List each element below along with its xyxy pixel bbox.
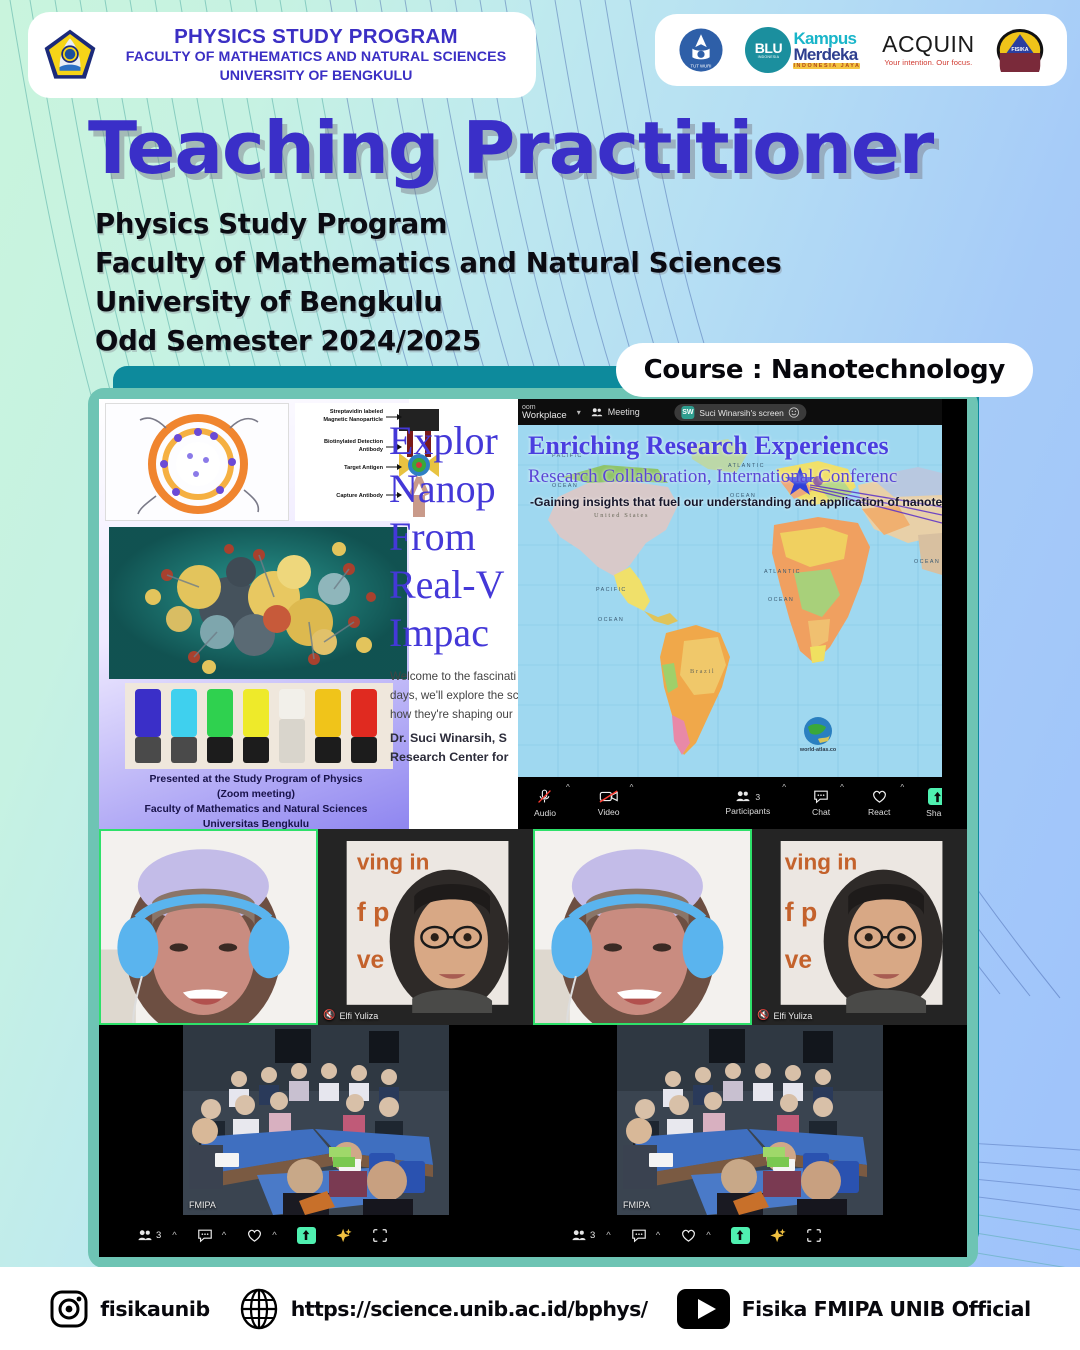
svg-text:OCEAN: OCEAN	[598, 617, 624, 623]
youtube-icon	[676, 1288, 731, 1330]
svg-text:PACIFIC: PACIFIC	[596, 587, 627, 593]
blu-logo: BLU INDONESIA	[745, 27, 791, 73]
view-button[interactable]	[372, 1228, 388, 1243]
react-label: React	[868, 807, 890, 817]
slide-body-line-3: how they're shaping our	[390, 705, 523, 724]
microphone-muted-icon: 🔇	[323, 1010, 335, 1021]
participant-name: Elfi Yuliza	[773, 1011, 812, 1021]
react-button[interactable]: React	[868, 789, 890, 817]
slide-body-line-2: days, we'll explore the sc	[390, 686, 523, 705]
tut-wuri-handayani-logo: TUT WURI	[678, 14, 724, 86]
website-url: https://science.unib.ac.id/bphys/	[291, 1297, 648, 1321]
subtitle-line-2: Faculty of Mathematics and Natural Scien…	[95, 244, 781, 283]
svg-text:Streptavidin labeled: Streptavidin labeled	[330, 409, 384, 415]
view-button[interactable]	[806, 1228, 822, 1243]
partner-logos-card: TUT WURI BLU INDONESIA Kampus Merdeka IN…	[655, 14, 1067, 86]
fisika-label: FISIKA	[1012, 47, 1029, 53]
slide-body: Welcome to the fascinati days, we'll exp…	[390, 667, 523, 724]
classroom-image: FMIPA	[617, 1025, 883, 1215]
svg-text:Brazil: Brazil	[690, 668, 715, 675]
view-grid-icon	[372, 1228, 388, 1243]
react-button[interactable]: ^	[246, 1228, 276, 1243]
svg-text:f p: f p	[785, 897, 818, 927]
participant-tile[interactable]	[533, 829, 752, 1025]
subtitle-block: Physics Study Program Faculty of Mathema…	[95, 205, 781, 361]
heart-icon	[871, 789, 888, 804]
react-caret-icon[interactable]: ^	[272, 1230, 276, 1241]
kampus-merdeka-line-2: Merdeka	[793, 47, 860, 63]
classroom-image: FMIPA	[183, 1025, 449, 1215]
svg-text:Magnetic Nanoparticle: Magnetic Nanoparticle	[323, 417, 383, 423]
classroom-tile[interactable]: FMIPA	[99, 1025, 533, 1215]
header-line-2: FACULTY OF MATHEMATICS AND NATURAL SCIEN…	[106, 48, 526, 66]
header-line-1: PHYSICS STUDY PROGRAM	[106, 25, 526, 49]
caption-line-3: Faculty of Mathematics and Natural Scien…	[103, 802, 409, 817]
page-title: Teaching Practitioner	[88, 112, 933, 184]
bottom-toolbar-left: 3 ^ ^ ^	[99, 1227, 533, 1244]
svg-text:ving in: ving in	[785, 850, 858, 875]
zoom-meeting-toolbar: Audio ^ Video ^	[518, 777, 942, 829]
footer-bar: fisikaunib https://science.unib.ac.id/bp…	[0, 1267, 1080, 1350]
svg-text:ving in: ving in	[357, 850, 430, 875]
nanoparticle-render-image	[109, 527, 407, 679]
classroom-tile-name: FMIPA	[189, 1200, 216, 1210]
audio-button[interactable]: Audio	[534, 788, 556, 818]
kampus-merdeka-logo: BLU INDONESIA Kampus Merdeka INDONESIA J…	[745, 14, 860, 86]
map-slide-subheading: Research Collaboration, International Co…	[528, 466, 897, 488]
map-slide-bullet: -Gaining insights that fuel our understa…	[530, 495, 942, 509]
classroom-strip: FMIPA	[99, 1025, 967, 1215]
zoom-screenshot: Streptavidin labeled Magnetic Nanopartic…	[99, 399, 967, 1257]
participants-label: Participants	[725, 806, 770, 816]
bottom-toolbar: 3 ^ ^ ^	[99, 1215, 967, 1255]
share-button[interactable]	[297, 1227, 316, 1244]
slide-title-line-1: Explor	[389, 417, 523, 465]
react-caret-icon[interactable]: ^	[900, 783, 904, 792]
view-grid-icon	[806, 1228, 822, 1243]
participants-count: 3	[156, 1230, 161, 1241]
participant-tile[interactable]: ving in f p ve	[752, 829, 967, 1025]
participants-caret-icon[interactable]: ^	[782, 783, 786, 792]
zoom-app-name-line-2: Workplace	[522, 411, 567, 421]
participants-caret-icon[interactable]: ^	[606, 1230, 610, 1241]
participants-button[interactable]: 3 ^	[571, 1229, 611, 1242]
participants-count: 3	[755, 792, 760, 802]
svg-text:ve: ve	[785, 947, 812, 974]
svg-text:OCEAN: OCEAN	[914, 559, 940, 565]
svg-text:Biotinylated Detection: Biotinylated Detection	[324, 439, 384, 445]
audio-label: Audio	[534, 808, 556, 818]
caption-line-2: (Zoom meeting)	[103, 787, 409, 802]
meeting-tab[interactable]: Meeting	[591, 407, 640, 418]
svg-text:world-atlas.co: world-atlas.co	[799, 747, 837, 753]
participant-strip: ving in f p ve	[99, 829, 967, 1025]
participants-icon	[137, 1229, 153, 1242]
meeting-tab-label: Meeting	[608, 407, 640, 417]
instagram-link[interactable]: fisikaunib	[49, 1289, 210, 1329]
svg-text:f p: f p	[357, 897, 390, 927]
caption-line-1: Presented at the Study Program of Physic…	[103, 772, 409, 787]
chat-label: Chat	[812, 807, 830, 817]
chat-caret-icon[interactable]: ^	[840, 783, 844, 792]
sparkle-icon	[770, 1227, 786, 1243]
instagram-icon	[49, 1289, 89, 1329]
blu-label: BLU	[755, 41, 782, 55]
participant-name: Elfi Yuliza	[339, 1011, 378, 1021]
slide-presenter: Dr. Suci Winarsih, S Research Center for	[390, 729, 523, 767]
participants-icon	[571, 1229, 587, 1242]
caption-line-4: Universitas Bengkulu	[103, 817, 409, 829]
slide-title-line-4: Real-V	[389, 561, 523, 609]
smiley-icon[interactable]	[789, 407, 800, 418]
heart-icon	[246, 1228, 263, 1243]
presenter-line-1: Dr. Suci Winarsih, S	[390, 729, 523, 748]
participant-tile[interactable]	[99, 829, 318, 1025]
zoom-window: oom Workplace ▾ Meeting SW Suci Winarsih…	[518, 399, 942, 829]
subtitle-line-3: University of Bengkulu	[95, 283, 781, 322]
map-slide-heading: Enriching Research Experiences	[528, 431, 889, 461]
video-button[interactable]: Video	[598, 789, 620, 817]
heart-icon	[680, 1228, 697, 1243]
shared-screen-row: Streptavidin labeled Magnetic Nanopartic…	[99, 399, 967, 829]
participants-icon	[735, 790, 751, 803]
participant-name-badge: 🔇 Elfi Yuliza	[757, 1010, 812, 1021]
camera-off-icon	[599, 789, 619, 804]
classroom-tile[interactable]: FMIPA	[533, 1025, 967, 1215]
chat-button[interactable]: ^	[197, 1228, 226, 1243]
chat-button[interactable]: ^	[631, 1228, 660, 1243]
slide-body-line-1: Welcome to the fascinati	[390, 667, 523, 686]
presenter-line-2: Research Center for	[390, 748, 523, 767]
screenshot-frame: Streptavidin labeled Magnetic Nanopartic…	[88, 388, 978, 1268]
svg-text:TUT WURI: TUT WURI	[690, 63, 711, 68]
svg-text:Capture Antibody: Capture Antibody	[336, 493, 384, 499]
slide-caption: Presented at the Study Program of Physic…	[103, 772, 409, 829]
react-caret-icon[interactable]: ^	[706, 1230, 710, 1241]
svg-text:Antibody: Antibody	[359, 447, 384, 453]
sharing-indicator-label: Suci Winarsih's screen	[699, 408, 783, 418]
share-screen-icon	[301, 1229, 311, 1241]
microphone-muted-icon: 🔇	[757, 1010, 769, 1021]
ai-companion-button[interactable]	[770, 1227, 786, 1243]
unib-logo	[42, 27, 98, 83]
share-button[interactable]	[731, 1227, 750, 1244]
participants-count: 3	[590, 1230, 595, 1241]
sparkle-icon	[336, 1227, 352, 1243]
liposome-diagram-image	[105, 403, 289, 521]
blu-sublabel: INDONESIA	[758, 55, 780, 59]
sharing-indicator: SW Suci Winarsih's screen	[674, 404, 806, 421]
chat-button[interactable]: Chat	[812, 789, 830, 817]
audio-caret-icon[interactable]: ^	[566, 783, 570, 792]
sharer-avatar: SW	[681, 406, 694, 419]
participants-button[interactable]: 3 ^	[137, 1229, 177, 1242]
slide-title: Explor Nanop From Real-V Impac	[389, 417, 523, 657]
svg-text:Target Antigen: Target Antigen	[344, 465, 383, 471]
slide-title-line-5: Impac	[389, 609, 523, 657]
ai-companion-button[interactable]	[336, 1227, 352, 1243]
video-caret-icon[interactable]: ^	[630, 783, 634, 792]
share-screen-icon	[932, 791, 942, 803]
svg-text:ATLANTIC: ATLANTIC	[764, 569, 801, 575]
program-title-card: PHYSICS STUDY PROGRAM FACULTY OF MATHEMA…	[28, 12, 536, 98]
zoom-app-name: oom Workplace	[522, 404, 567, 421]
classroom-tile-name: FMIPA	[623, 1200, 650, 1210]
react-button[interactable]: ^	[680, 1228, 710, 1243]
instagram-handle: fisikaunib	[100, 1297, 210, 1321]
subtitle-line-1: Physics Study Program	[95, 205, 781, 244]
share-button[interactable]: Share	[926, 788, 942, 818]
header-line-3: UNIVERSITY OF BENGKULU	[106, 67, 526, 85]
shared-map-slide: PACIFICOCEAN ATLANTICOCEAN ATLANTICOCEAN…	[518, 425, 942, 777]
slide-title-line-3: From	[389, 513, 523, 561]
zoom-titlebar: oom Workplace ▾ Meeting SW Suci Winarsih…	[518, 399, 942, 425]
chat-icon	[197, 1228, 213, 1243]
svg-text:OCEAN: OCEAN	[768, 597, 794, 603]
chat-icon	[813, 789, 829, 804]
share-label: Share	[926, 808, 942, 818]
fisika-unib-logo: FISIKA	[996, 14, 1044, 86]
share-screen-icon	[735, 1229, 745, 1241]
chat-caret-icon[interactable]: ^	[222, 1230, 226, 1241]
participants-icon	[591, 407, 603, 418]
video-label: Video	[598, 807, 620, 817]
participants-button[interactable]: 3 Participants	[725, 790, 770, 816]
acquin-wordmark: ACQUIN	[882, 31, 974, 57]
website-link[interactable]: https://science.unib.ac.id/bphys/	[238, 1288, 648, 1330]
course-badge: Course : Nanotechnology	[616, 343, 1033, 397]
bottom-toolbar-right: 3 ^ ^ ^	[533, 1227, 967, 1244]
microphone-muted-icon	[536, 788, 553, 805]
kampus-merdeka-line-3: INDONESIA JAYA	[793, 63, 860, 69]
youtube-channel: Fisika FMIPA UNIB Official	[742, 1297, 1031, 1321]
participant-name-badge: 🔇 Elfi Yuliza	[323, 1010, 378, 1021]
participants-caret-icon[interactable]: ^	[172, 1230, 176, 1241]
youtube-link[interactable]: Fisika FMIPA UNIB Official	[676, 1288, 1031, 1330]
chevron-down-icon[interactable]: ▾	[577, 408, 581, 417]
chat-icon	[631, 1228, 647, 1243]
shared-slide: Streptavidin labeled Magnetic Nanopartic…	[99, 399, 523, 829]
slide-title-line-2: Nanop	[389, 465, 523, 513]
nanoparticle-vials-image	[125, 683, 393, 769]
svg-text:United States: United States	[594, 512, 649, 519]
globe-icon	[238, 1288, 280, 1330]
svg-text:ve: ve	[357, 947, 384, 974]
acquin-logo: ACQUIN Your intention. Our focus.	[882, 14, 974, 86]
participant-tile[interactable]: ving in f p ve	[318, 829, 533, 1025]
chat-caret-icon[interactable]: ^	[656, 1230, 660, 1241]
acquin-tagline: Your intention. Our focus.	[882, 59, 974, 67]
